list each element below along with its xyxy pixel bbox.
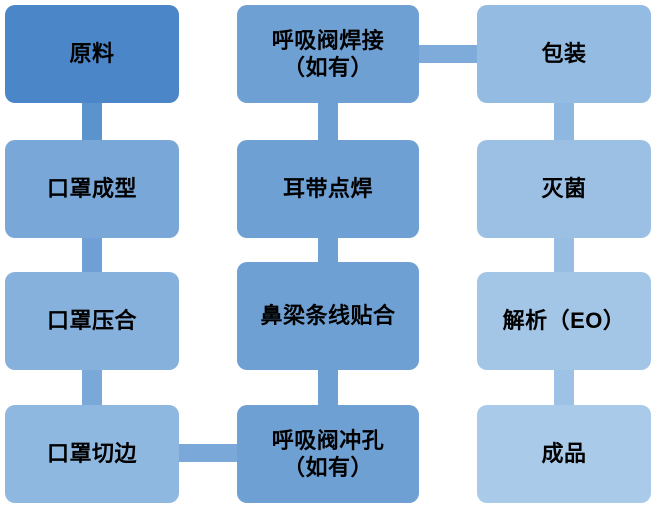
process-node-n2[interactable]: 口罩成型 (5, 140, 179, 238)
process-node-label: 灭菌 (541, 175, 586, 203)
process-flowchart: 原料口罩成型口罩压合口罩切边呼吸阀焊接（如有）耳带点焊鼻梁条线贴合呼吸阀冲孔（如… (0, 0, 656, 510)
connector-n10-to-n11 (554, 238, 574, 273)
connector-n3-to-n4 (82, 370, 102, 406)
process-node-n6[interactable]: 耳带点焊 (237, 140, 419, 238)
process-node-label: 鼻梁条线贴合 (260, 302, 395, 330)
process-node-label: 口罩切边 (47, 440, 137, 468)
connector-n2-to-n3 (82, 238, 102, 273)
process-node-n9[interactable]: 包装 (477, 5, 651, 103)
process-node-label-line2: （如有） (283, 455, 373, 480)
process-node-label: 解析（EO） (503, 307, 626, 335)
process-node-n10[interactable]: 灭菌 (477, 140, 651, 238)
connector-n7-to-n6 (318, 238, 338, 263)
process-node-label: 原料 (69, 40, 114, 68)
connector-n4-to-n8 (179, 444, 238, 462)
process-node-label: 口罩压合 (47, 307, 137, 335)
connector-n1-to-n2 (82, 103, 102, 141)
process-node-n7[interactable]: 鼻梁条线贴合 (237, 262, 419, 370)
process-node-n4[interactable]: 口罩切边 (5, 405, 179, 503)
process-node-label: 耳带点焊 (283, 175, 373, 203)
connector-n5-to-n9 (419, 45, 478, 63)
process-node-n5[interactable]: 呼吸阀焊接（如有） (237, 5, 419, 103)
connector-n8-to-n7 (318, 370, 338, 406)
connector-n6-to-n5 (318, 103, 338, 141)
connector-n9-to-n10 (554, 103, 574, 141)
process-node-label-line2: （如有） (283, 55, 373, 80)
process-node-n12[interactable]: 成品 (477, 405, 651, 503)
process-node-n1[interactable]: 原料 (5, 5, 179, 103)
process-node-label: 成品 (541, 440, 586, 468)
process-node-label: 呼吸阀焊接 (272, 28, 385, 53)
process-node-label: 包装 (541, 40, 586, 68)
process-node-n3[interactable]: 口罩压合 (5, 272, 179, 370)
process-node-label: 呼吸阀冲孔 (272, 428, 385, 453)
process-node-n11[interactable]: 解析（EO） (477, 272, 651, 370)
process-node-n8[interactable]: 呼吸阀冲孔（如有） (237, 405, 419, 503)
process-node-label: 口罩成型 (47, 175, 137, 203)
connector-n11-to-n12 (554, 370, 574, 406)
